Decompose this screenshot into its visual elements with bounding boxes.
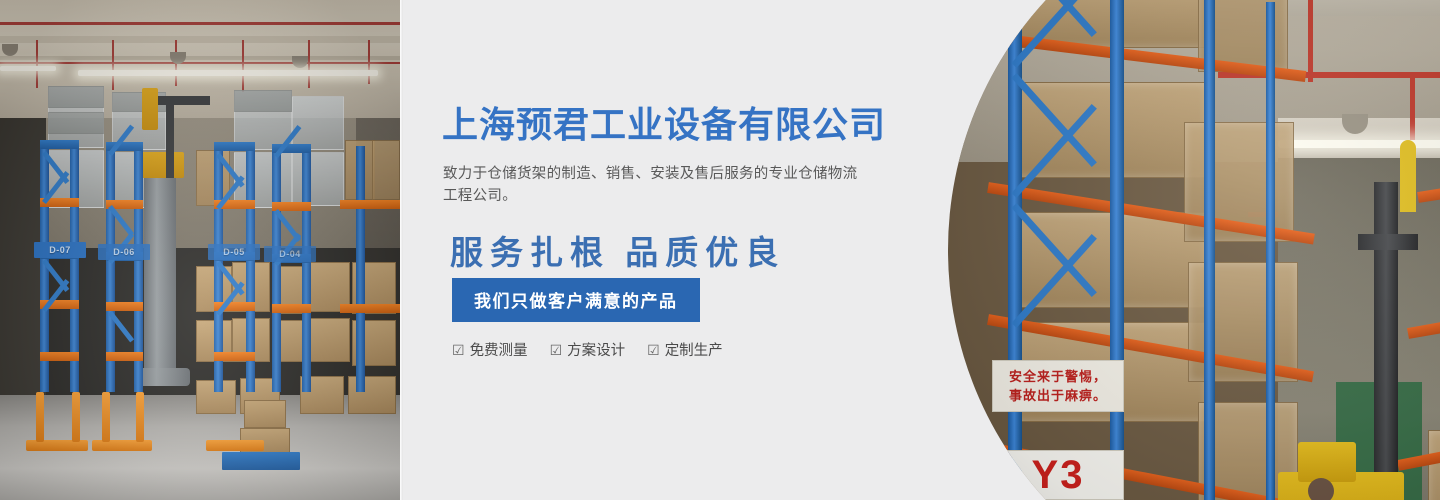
check-icon: ☑: [550, 343, 563, 357]
feature-label: 定制生产: [665, 339, 723, 360]
feature-item-plan-design: ☑ 方案设计: [550, 339, 626, 360]
feature-label: 方案设计: [567, 339, 625, 360]
hero-banner: D-07 D-06: [0, 0, 1440, 500]
left-warehouse-photo: D-07 D-06: [0, 0, 400, 500]
feature-item-free-measure: ☑ 免费测量: [452, 339, 528, 360]
photo-divider: [400, 0, 403, 500]
feature-list: ☑ 免费测量 ☑ 方案设计 ☑ 定制生产: [452, 339, 723, 360]
feature-label: 免费测量: [470, 339, 528, 360]
feature-item-custom-production: ☑ 定制生产: [647, 339, 723, 360]
hero-content: 上海预君工业设备有限公司 致力于仓储货架的制造、销售、安装及售后服务的专业仓储物…: [442, 0, 912, 500]
check-icon: ☑: [647, 343, 660, 357]
photo-vignette: [0, 0, 400, 500]
company-title: 上海预君工业设备有限公司: [442, 103, 886, 147]
right-photo-scene: 安全来于警惕， 事故出于麻痹。 Y3 Y3: [948, 0, 1440, 500]
right-warehouse-photo: 安全来于警惕， 事故出于麻痹。 Y3 Y3: [948, 0, 1440, 500]
photo-vignette: [948, 0, 1440, 500]
right-photo-wrap: 安全来于警惕， 事故出于麻痹。 Y3 Y3: [900, 0, 1440, 500]
company-slogan: 服务扎根 品质优良: [450, 226, 785, 274]
promise-ribbon: 我们只做客户满意的产品: [452, 278, 700, 322]
company-subtitle: 致力于仓储货架的制造、销售、安装及售后服务的专业仓储物流工程公司。: [443, 163, 863, 207]
check-icon: ☑: [452, 343, 465, 357]
